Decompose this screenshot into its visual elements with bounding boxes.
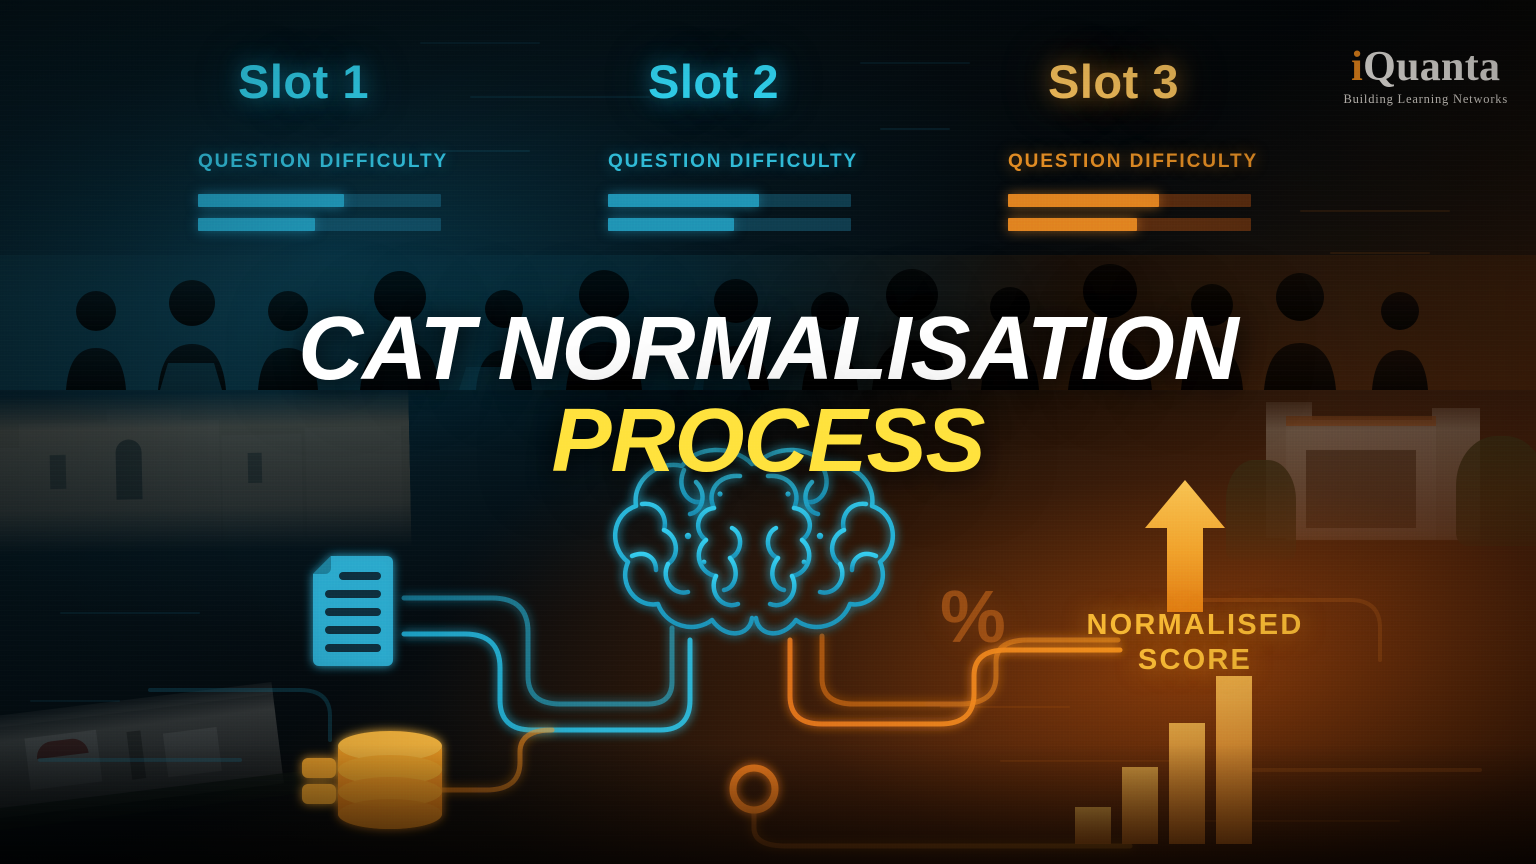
poster-canvas: Slot 1 QUESTION DIFFICULTY Slot 2 QUESTI… <box>0 0 1536 864</box>
vignette-overlay <box>0 0 1536 864</box>
bottom-darken-overlay <box>0 744 1536 864</box>
